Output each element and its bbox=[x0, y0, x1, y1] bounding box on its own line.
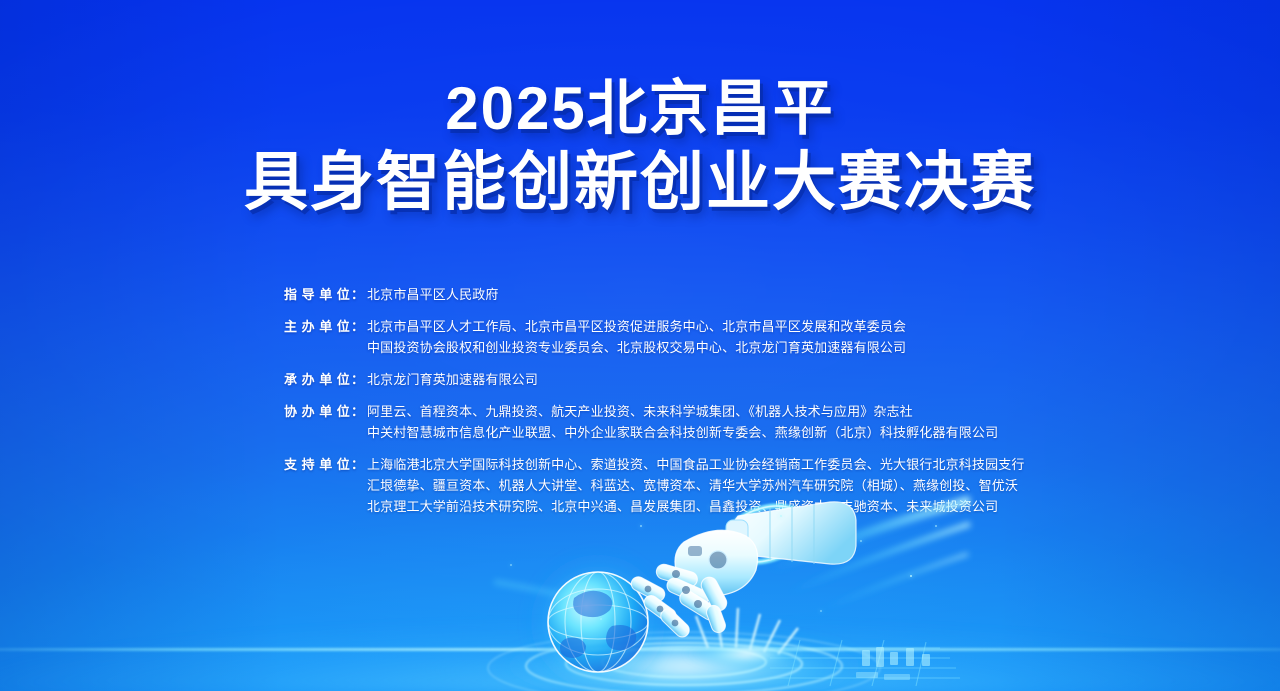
ground-light-pool bbox=[494, 630, 874, 691]
credit-body: 北京龙门育英加速器有限公司 bbox=[367, 369, 1044, 390]
digital-globe bbox=[548, 572, 648, 672]
horizon-line bbox=[0, 648, 1280, 651]
credit-label: 协办单位 bbox=[284, 401, 350, 422]
poster-title: 2025北京昌平 具身智能创新创业大赛决赛 bbox=[0, 79, 1280, 214]
credit-body: 北京市昌平区人民政府 bbox=[367, 284, 1044, 305]
credit-line: 中国投资协会股权和创业投资专业委员会、北京股权交易中心、北京龙门育英加速器有限公… bbox=[367, 337, 1044, 358]
globe-landmass bbox=[560, 591, 636, 658]
credit-label: 主办单位 bbox=[284, 316, 350, 337]
credit-row: 指导单位：北京市昌平区人民政府 bbox=[284, 284, 1044, 305]
credit-label: 支持单位 bbox=[284, 454, 350, 475]
credit-line: 北京市昌平区人民政府 bbox=[367, 284, 1044, 305]
credit-line: 北京龙门育英加速器有限公司 bbox=[367, 369, 1044, 390]
circuit-blocks bbox=[856, 647, 930, 680]
credit-colon: ： bbox=[350, 401, 367, 422]
title-line-secondary: 具身智能创新创业大赛决赛 bbox=[0, 150, 1280, 214]
credit-line: 阿里云、首程资本、九鼎投资、航天产业投资、未来科学城集团、《机器人技术与应用》杂… bbox=[367, 401, 1044, 422]
credit-body: 上海临港北京大学国际科技创新中心、索道投资、中国食品工业协会经销商工作委员会、光… bbox=[367, 454, 1044, 517]
horizon-glow bbox=[0, 596, 1280, 691]
credit-colon: ： bbox=[350, 284, 367, 305]
credit-line: 中关村智慧城市信息化产业联盟、中外企业家联合会科技创新专委会、燕缘创新（北京）科… bbox=[367, 422, 1044, 443]
credit-label: 指导单位 bbox=[284, 284, 350, 305]
credit-row: 协办单位：阿里云、首程资本、九鼎投资、航天产业投资、未来科学城集团、《机器人技术… bbox=[284, 401, 1044, 443]
hero-artwork bbox=[470, 498, 970, 691]
robotic-palm bbox=[675, 530, 758, 596]
title-line-primary: 2025北京昌平 bbox=[0, 79, 1280, 139]
finger-joints bbox=[645, 570, 702, 626]
ground-rings bbox=[488, 632, 880, 691]
credit-colon: ： bbox=[350, 316, 367, 337]
circuit-grid bbox=[770, 640, 960, 686]
robotic-fingers bbox=[629, 562, 730, 639]
data-particles bbox=[470, 498, 970, 691]
credit-line: 北京理工大学前沿技术研究院、北京中兴通、昌发展集团、昌鑫投资、鼎盛资本、丰驰资本… bbox=[367, 496, 1044, 517]
organizer-credits-block: 指导单位：北京市昌平区人民政府主办单位：北京市昌平区人才工作局、北京市昌平区投资… bbox=[284, 284, 1044, 517]
credit-line: 上海临港北京大学国际科技创新中心、索道投资、中国食品工业协会经销商工作委员会、光… bbox=[367, 454, 1044, 475]
globe-halo bbox=[520, 544, 676, 691]
poster-canvas: 2025北京昌平 具身智能创新创业大赛决赛 指导单位：北京市昌平区人民政府主办单… bbox=[0, 0, 1280, 691]
credit-body: 阿里云、首程资本、九鼎投资、航天产业投资、未来科学城集团、《机器人技术与应用》杂… bbox=[367, 401, 1044, 443]
credit-line: 汇垠德挚、疆亘资本、机器人大讲堂、科蓝达、宽博资本、清华大学苏州汽车研究院（相城… bbox=[367, 475, 1044, 496]
credit-label: 承办单位 bbox=[284, 369, 350, 390]
credit-row: 主办单位：北京市昌平区人才工作局、北京市昌平区投资促进服务中心、北京市昌平区发展… bbox=[284, 316, 1044, 358]
credit-colon: ： bbox=[350, 454, 367, 475]
credit-line: 北京市昌平区人才工作局、北京市昌平区投资促进服务中心、北京市昌平区发展和改革委员… bbox=[367, 316, 1044, 337]
credit-row: 承办单位：北京龙门育英加速器有限公司 bbox=[284, 369, 1044, 390]
credit-row: 支持单位：上海临港北京大学国际科技创新中心、索道投资、中国食品工业协会经销商工作… bbox=[284, 454, 1044, 517]
credit-colon: ： bbox=[350, 369, 367, 390]
credit-body: 北京市昌平区人才工作局、北京市昌平区投资促进服务中心、北京市昌平区发展和改革委员… bbox=[367, 316, 1044, 358]
light-burst bbox=[696, 608, 798, 654]
